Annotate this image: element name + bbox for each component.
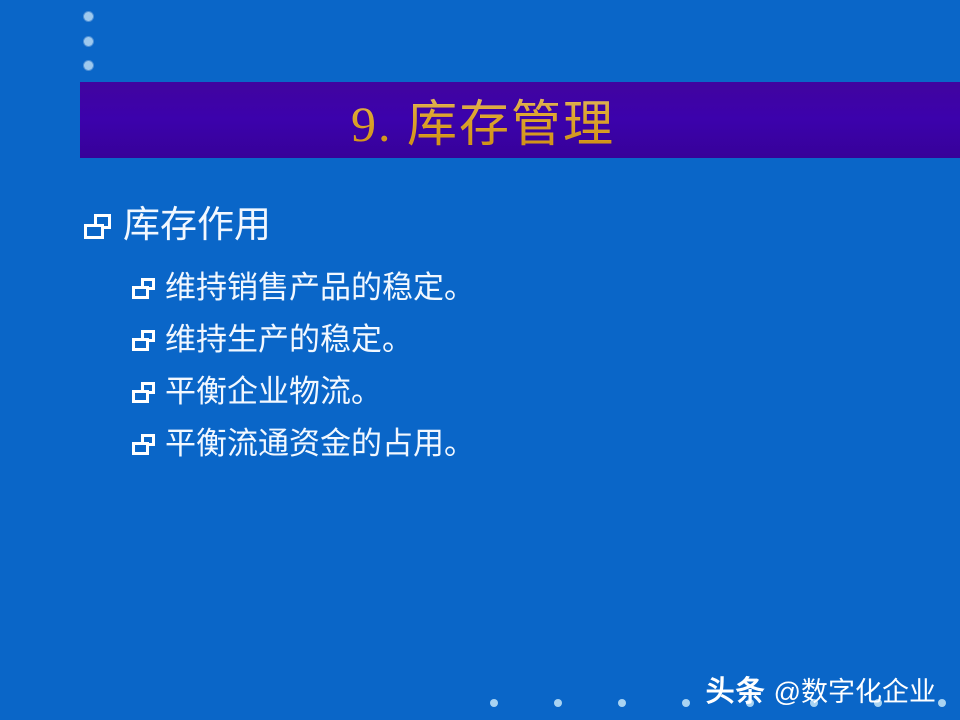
overlapping-rectangles-bullet-icon (132, 330, 155, 351)
bullet-level2: 平衡企业物流。 (132, 366, 960, 418)
bullet-level2-label: 维持生产的稳定。 (165, 314, 413, 366)
decorative-dot (682, 699, 690, 707)
bullet-level2: 维持生产的稳定。 (132, 314, 960, 366)
watermark-brand: 头条 (706, 668, 766, 710)
bullet-level2: 维持销售产品的稳定。 (132, 262, 960, 314)
decorative-dot (618, 699, 626, 707)
overlapping-rectangles-bullet-icon (132, 278, 155, 299)
decorative-dot (938, 699, 946, 707)
overlapping-rectangles-bullet-icon (132, 434, 155, 455)
bullet-level2-label: 维持销售产品的稳定。 (165, 262, 475, 314)
overlapping-rectangles-bullet-icon (84, 214, 111, 239)
bullet-level2: 平衡流通资金的占用。 (132, 418, 960, 470)
bullet-level1-label: 库存作用 (123, 200, 271, 252)
decorative-dot (84, 61, 93, 70)
watermark: 头条 @数字化企业 (706, 668, 936, 710)
decorative-dot (554, 699, 562, 707)
watermark-handle: @数字化企业 (774, 670, 936, 709)
presentation-slide: 9. 库存管理 库存作用 维持销售产品的稳定。 维持生产的稳定。 (0, 0, 960, 720)
bullet-level2-label: 平衡流通资金的占用。 (165, 418, 475, 470)
title-banner: 9. 库存管理 (80, 82, 960, 158)
decorative-dot (84, 12, 93, 21)
decorative-dot-column (84, 9, 96, 79)
decorative-dot (490, 699, 498, 707)
bullet-level1: 库存作用 (84, 200, 960, 252)
slide-title: 9. 库存管理 (80, 82, 886, 158)
decorative-dot (84, 37, 93, 46)
slide-body: 库存作用 维持销售产品的稳定。 维持生产的稳定。 平衡企业物流。 (0, 200, 960, 470)
overlapping-rectangles-bullet-icon (132, 382, 155, 403)
bullet-level2-label: 平衡企业物流。 (165, 366, 382, 418)
